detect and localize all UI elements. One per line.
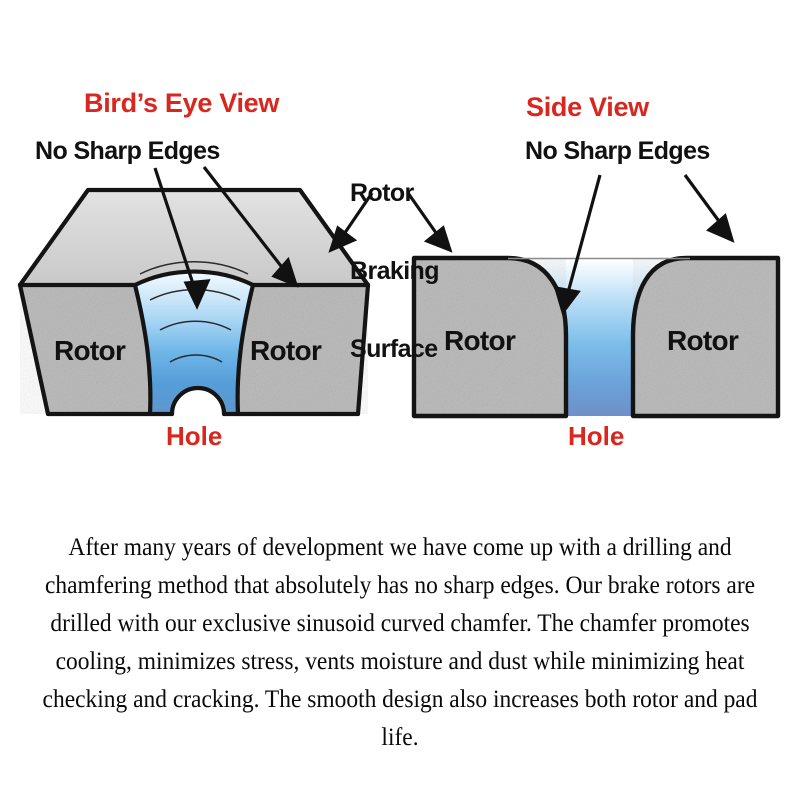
diagram-page: Bird’s Eye View No Sharp Edges Rotor Bra…	[0, 0, 800, 800]
arrow-no-sharp-edges-right-b	[685, 175, 732, 240]
side-view-rotor-label-right: Rotor	[667, 325, 738, 357]
side-view-rotor-label-left: Rotor	[444, 325, 515, 357]
description-paragraph: After many years of development we have …	[39, 528, 760, 756]
rotor-braking-surface-line-2: Braking	[350, 258, 439, 284]
birds-eye-no-sharp-edges-label: No Sharp Edges	[35, 139, 220, 164]
birds-eye-rotor-label-left: Rotor	[54, 335, 125, 367]
side-view-title: Side View	[526, 92, 649, 123]
rotor-braking-surface-line-3: Surface	[350, 336, 439, 362]
side-view-hole-label: Hole	[568, 421, 624, 452]
rotor-braking-surface-label: Rotor Braking Surface	[350, 128, 439, 414]
birds-eye-rotor-label-right: Rotor	[250, 335, 321, 367]
birds-eye-hole-label: Hole	[166, 421, 222, 452]
rotor-braking-surface-line-1: Rotor	[350, 180, 439, 206]
birds-eye-view-title: Bird’s Eye View	[84, 88, 279, 119]
side-view-no-sharp-edges-label: No Sharp Edges	[525, 139, 710, 164]
